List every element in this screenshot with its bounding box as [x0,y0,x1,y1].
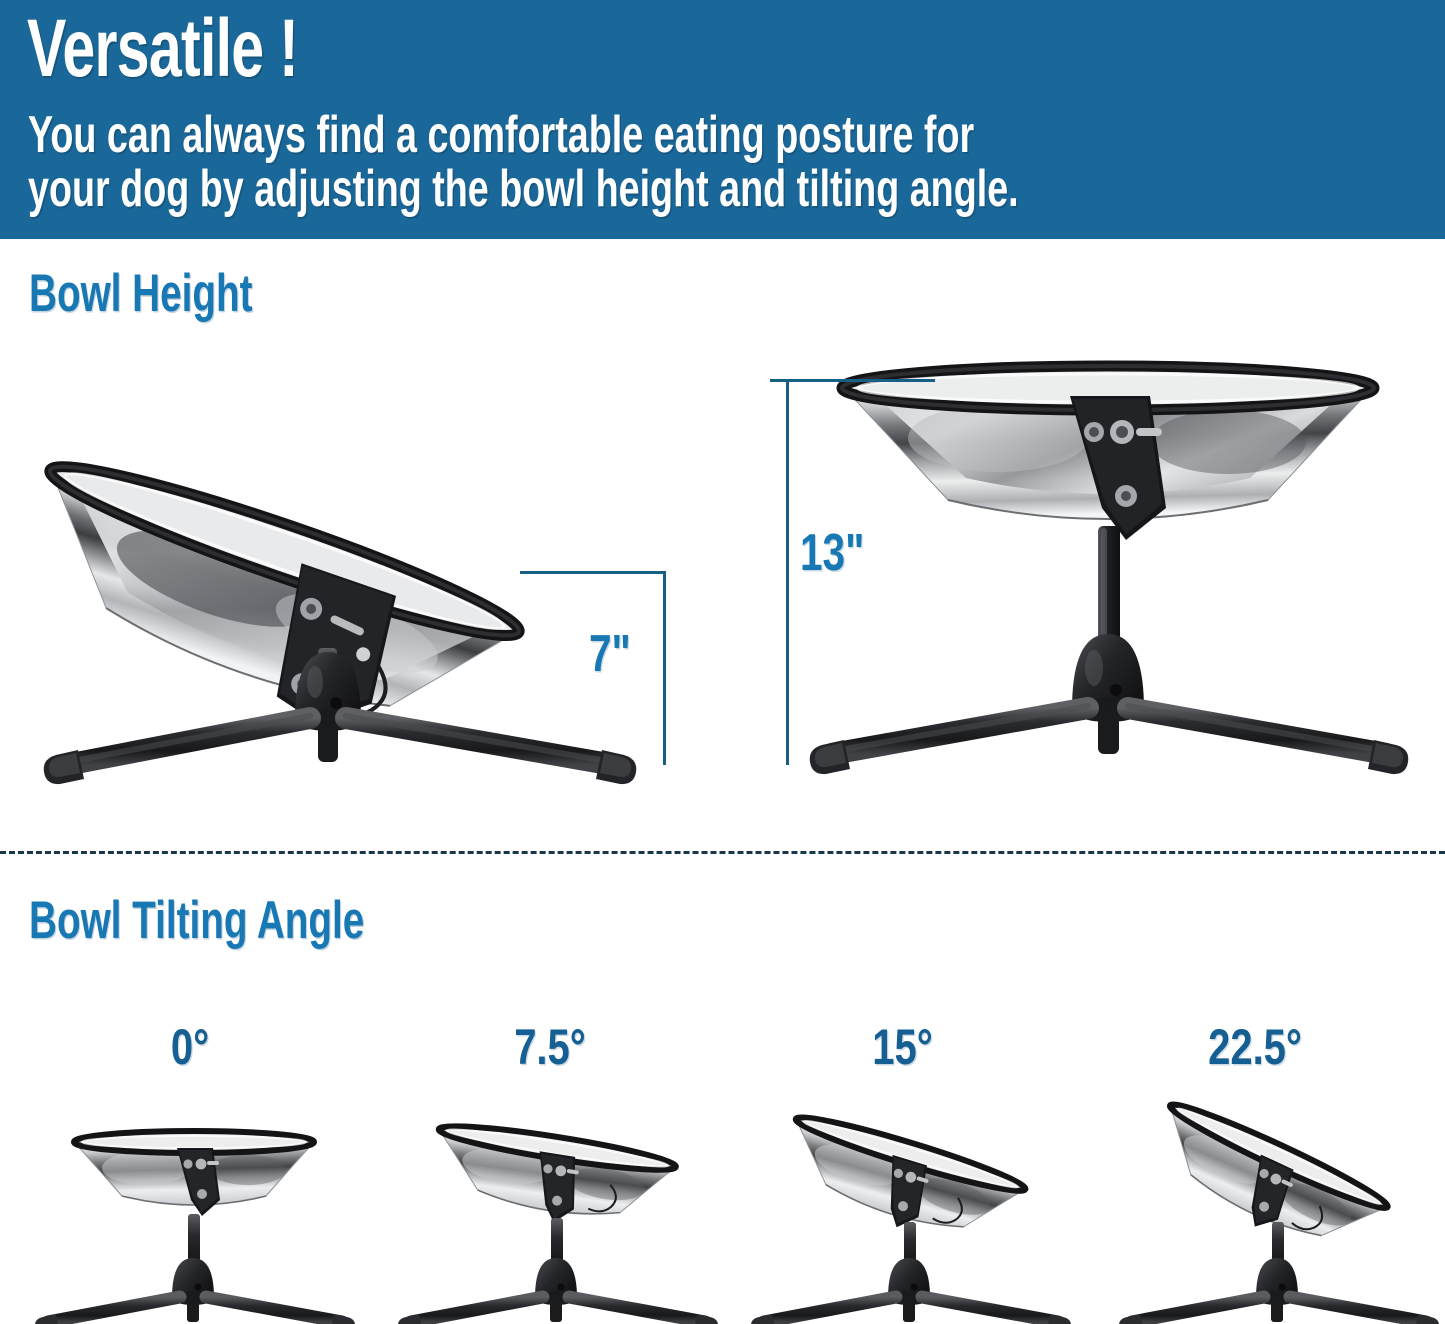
dimension-label-7in: 7" [589,628,631,680]
product-stand-angle-22-5 [1110,1112,1445,1324]
section-divider [0,851,1445,854]
banner-subtitle: You can always find a comfortable eating… [28,108,1445,216]
angle-label-0: 0° [130,1022,250,1072]
angle-label-22-5: 22.5° [1183,1022,1327,1072]
header-banner: Versatile ! You can always find a comfor… [0,0,1445,239]
dimension-tick-13in [770,379,935,382]
angle-label-7-5: 7.5° [482,1022,618,1072]
product-stand-angle-15 [740,1118,1090,1324]
page-title: Versatile ! [27,4,298,94]
banner-subtitle-line-1: You can always find a comfortable eating… [28,108,1445,162]
dimension-label-13in: 13" [800,527,864,579]
product-stand-angle-7-5 [385,1120,735,1324]
infographic-page: Versatile ! You can always find a comfor… [0,0,1445,1324]
dimension-tick-7in [520,571,666,574]
section-heading-bowl-height: Bowl Height [29,266,253,322]
product-stand-13-inch [790,368,1430,768]
banner-subtitle-line-2: your dog by adjusting the bowl height an… [28,162,1445,216]
angle-label-15: 15° [837,1022,969,1072]
product-stand-7-inch [18,420,678,780]
dimension-line-7in [663,571,666,765]
product-stand-angle-0 [22,1120,372,1324]
section-heading-bowl-tilting-angle: Bowl Tilting Angle [29,893,364,949]
dimension-line-13in [786,379,789,765]
